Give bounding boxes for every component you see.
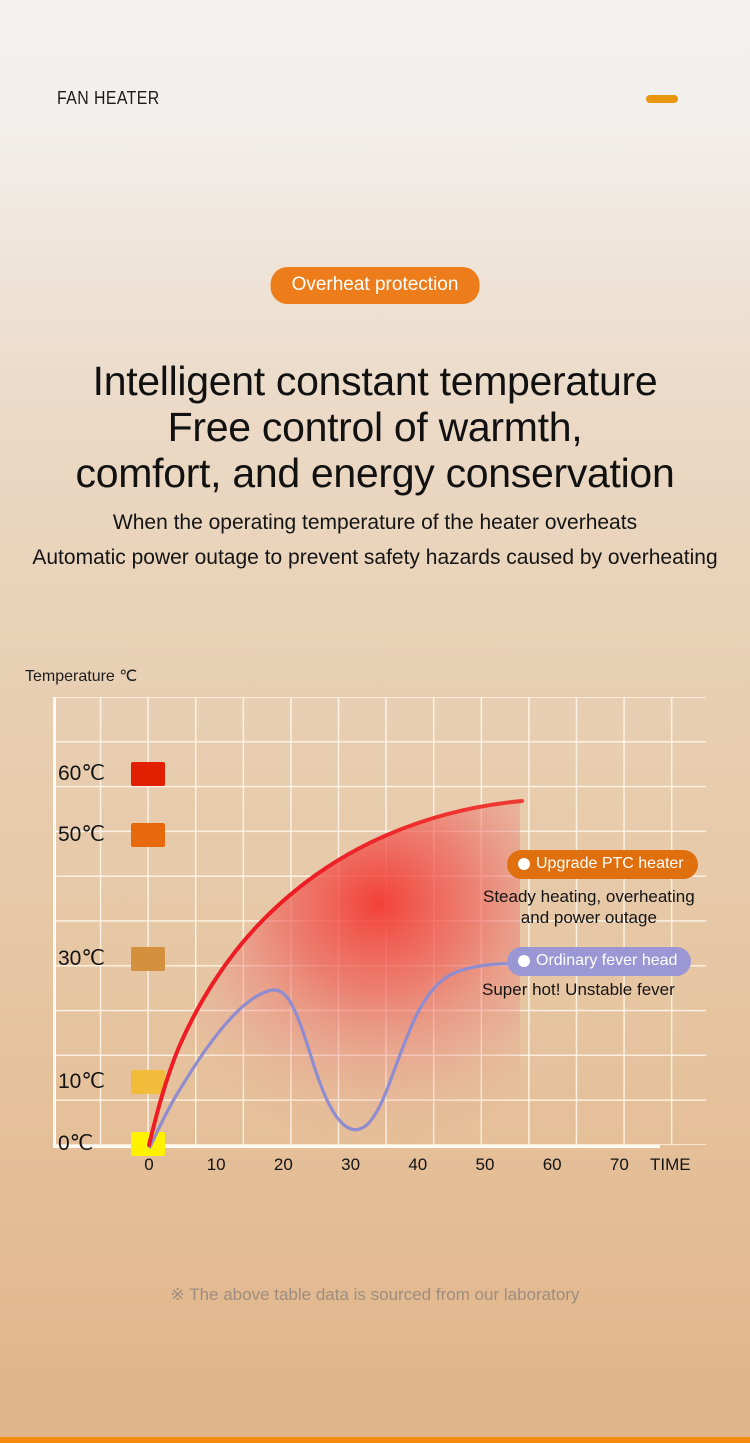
legend-ordinary-fever-head: Ordinary fever head xyxy=(507,947,691,976)
legend-caption-ptc-line-1: Steady heating, overheating xyxy=(483,886,695,907)
subtext-line-1: When the operating temperature of the he… xyxy=(0,505,750,540)
brand-title: FAN HEATER xyxy=(57,88,160,109)
header-dash-icon xyxy=(646,95,678,103)
legend-dot-icon xyxy=(518,858,530,870)
headline-line-1: Intelligent constant temperature xyxy=(0,358,750,404)
legend-label: Ordinary fever head xyxy=(536,952,677,970)
overheat-protection-badge: Overheat protection xyxy=(271,267,480,304)
page-header: FAN HEATER xyxy=(0,0,750,150)
legend-caption-ptc: Steady heating, overheating and power ou… xyxy=(483,886,695,928)
temperature-chart: Temperature ℃ 0℃10℃30℃50℃60℃ 01020304050… xyxy=(0,650,750,1210)
chart-footnote: ※ The above table data is sourced from o… xyxy=(0,1285,750,1305)
legend-upgrade-ptc-heater: Upgrade PTC heater xyxy=(507,850,698,879)
legend-dot-icon xyxy=(518,955,530,967)
subtext-block: When the operating temperature of the he… xyxy=(0,505,750,575)
headline-line-3: comfort, and energy conservation xyxy=(0,450,750,496)
subtext-line-2: Automatic power outage to prevent safety… xyxy=(0,540,750,575)
ptc-area-fill xyxy=(149,800,520,1145)
legend-label: Upgrade PTC heater xyxy=(536,855,684,873)
legend-caption-ordinary-line-1: Super hot! Unstable fever xyxy=(482,979,675,1000)
headline-line-2: Free control of warmth, xyxy=(0,404,750,450)
legend-caption-ptc-line-2: and power outage xyxy=(483,907,695,928)
chart-curves xyxy=(0,650,750,1210)
legend-caption-ordinary: Super hot! Unstable fever xyxy=(482,979,675,1000)
bottom-accent-bar xyxy=(0,1437,750,1443)
headline-block: Intelligent constant temperature Free co… xyxy=(0,358,750,496)
